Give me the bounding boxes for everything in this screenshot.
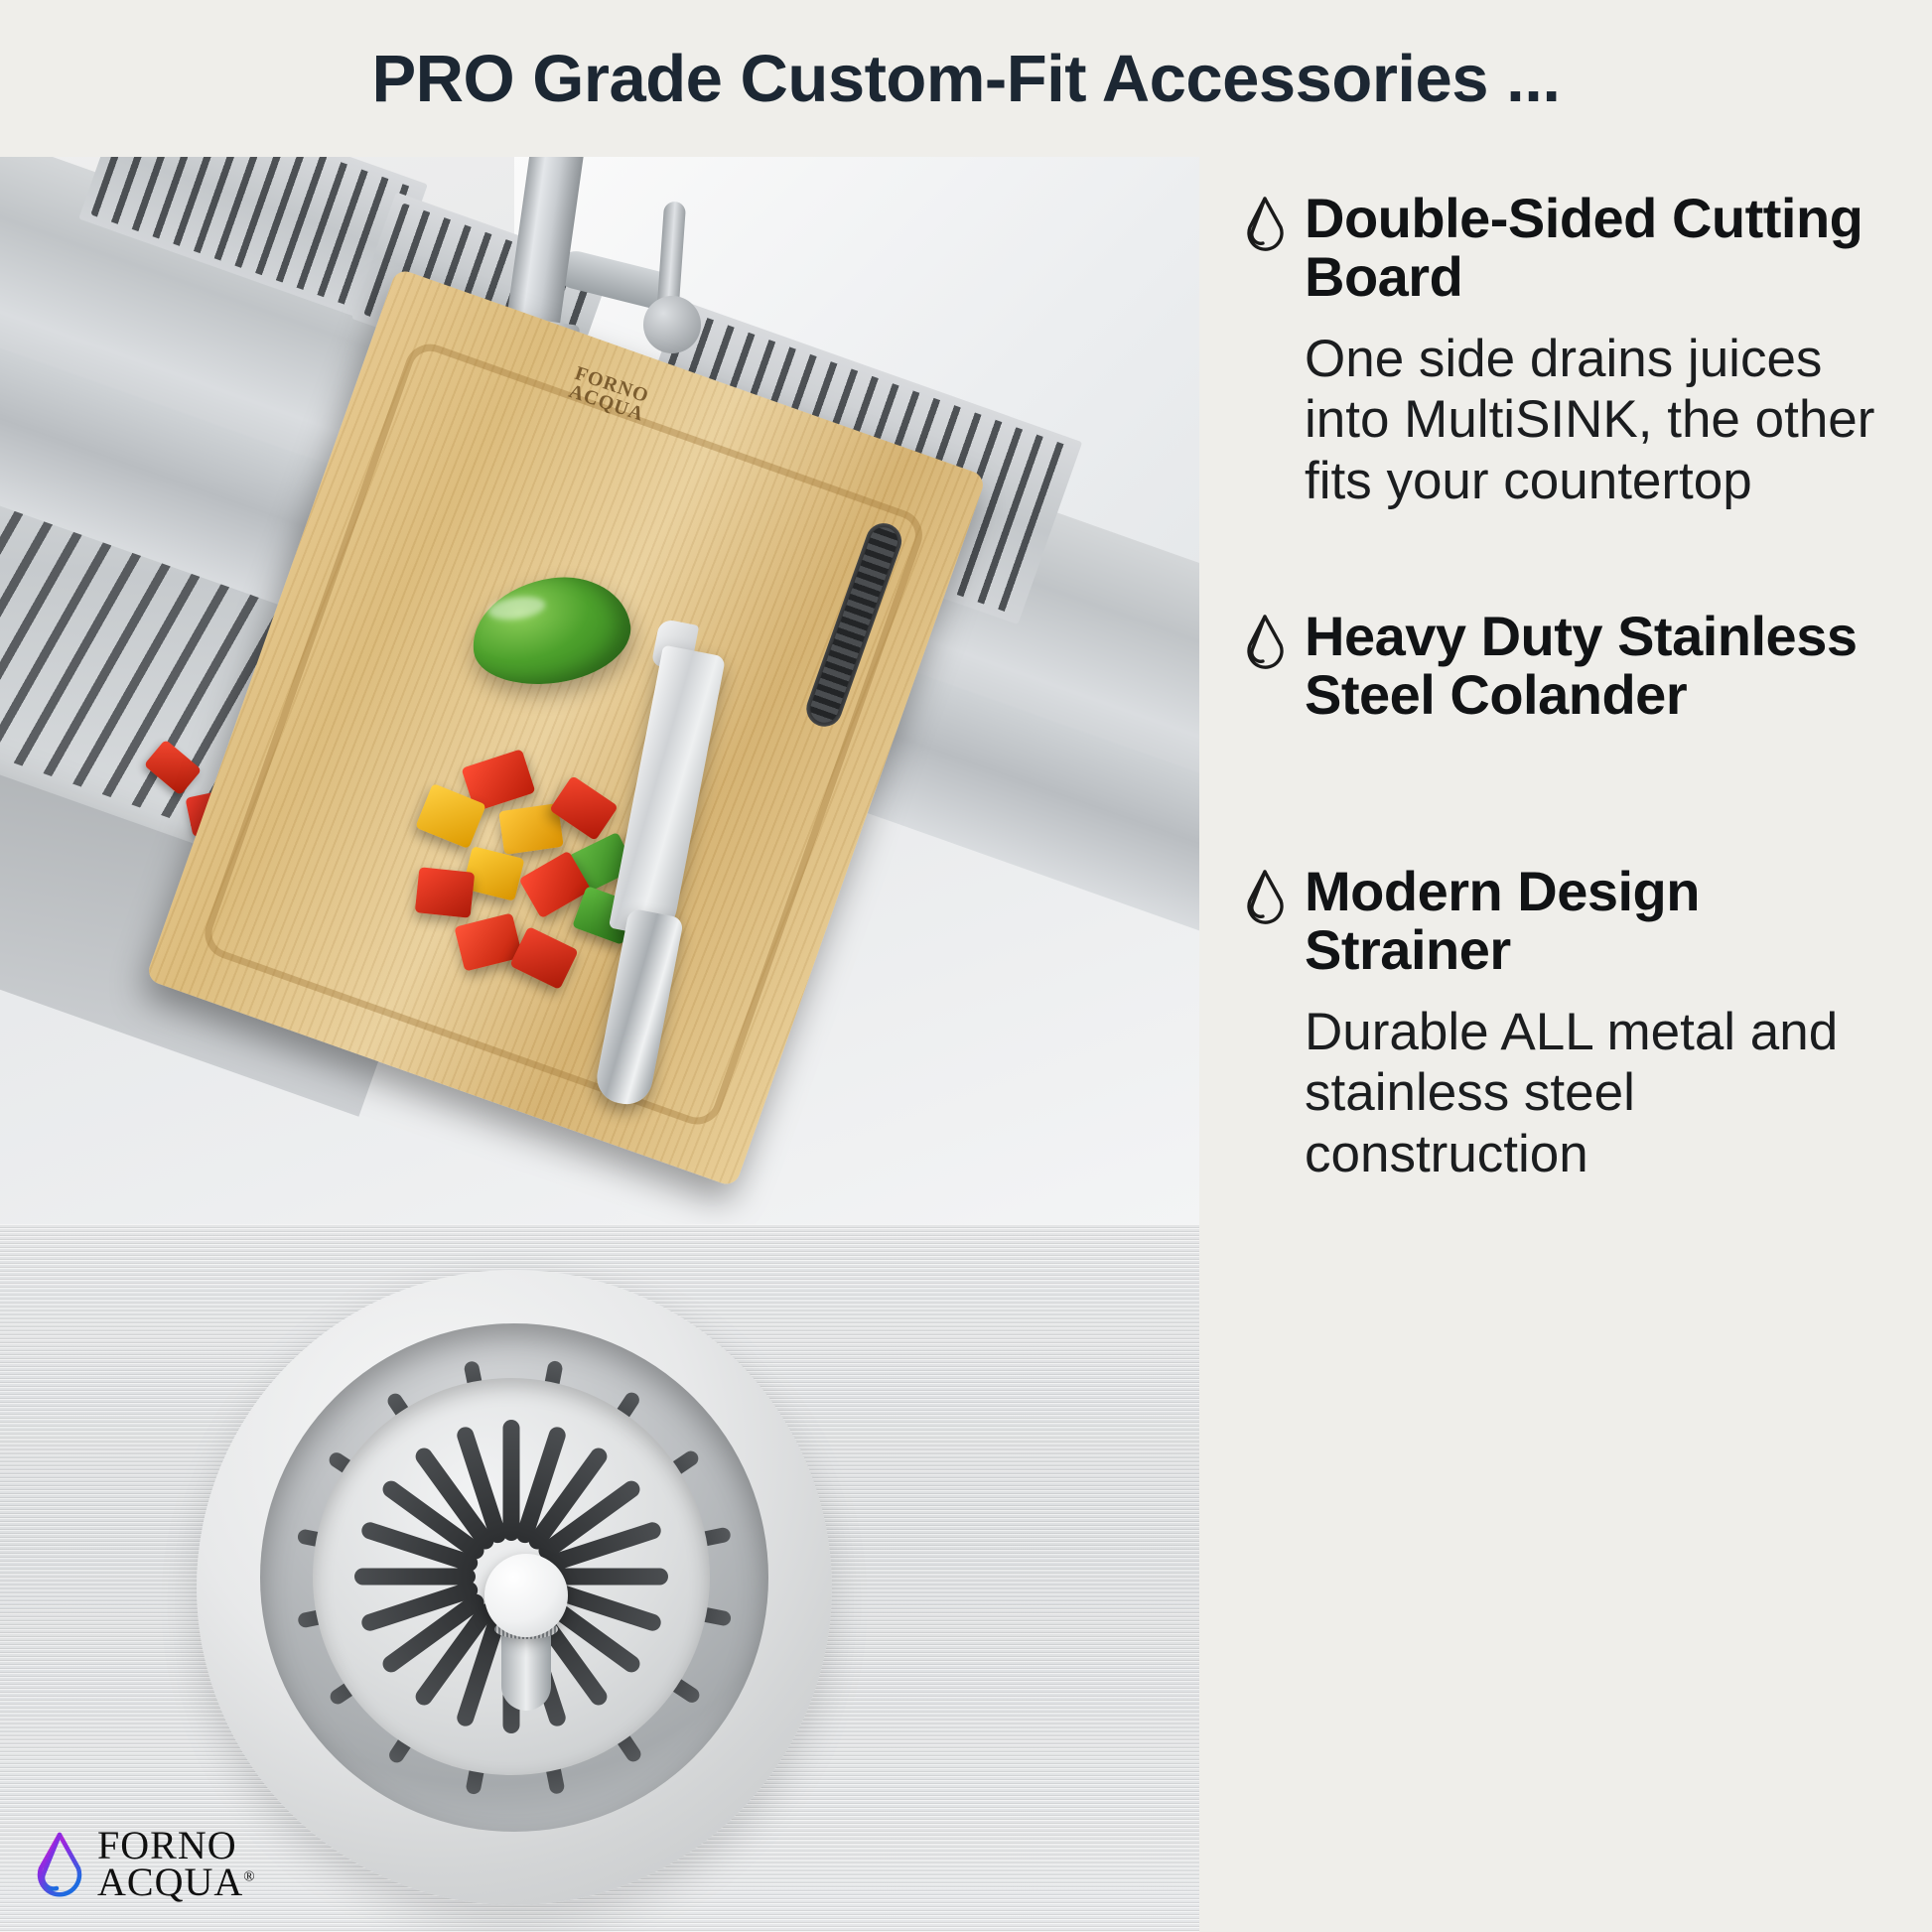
sink-drain-strainer-photo: FORNO ACQUA® xyxy=(0,1224,1199,1932)
feature-title: Double-Sided Cutting Board xyxy=(1305,189,1892,307)
feature-title: Modern Design Strainer xyxy=(1305,862,1892,980)
feature-strainer: Modern Design Strainer Durable ALL metal… xyxy=(1241,862,1892,1184)
feature-header: Modern Design Strainer xyxy=(1241,862,1892,980)
feature-header: Heavy Duty Stainless Steel Colander xyxy=(1241,607,1892,725)
feature-header: Double-Sided Cutting Board xyxy=(1241,189,1892,307)
feature-cutting-board: Double-Sided Cutting Board One side drai… xyxy=(1241,189,1892,511)
spacer xyxy=(1241,743,1892,862)
brand-line-acqua: ACQUA® xyxy=(97,1864,256,1901)
strainer-slot xyxy=(354,1569,476,1586)
feature-colander: Heavy Duty Stainless Steel Colander xyxy=(1241,607,1892,725)
registered-trademark: ® xyxy=(243,1869,255,1885)
strainer-center-knob xyxy=(484,1554,568,1637)
water-drop-icon xyxy=(1241,613,1287,674)
feature-title: Heavy Duty Stainless Steel Colander xyxy=(1305,607,1892,725)
feature-body: Durable ALL metal and stainless steel co… xyxy=(1305,1002,1892,1184)
page-title: PRO Grade Custom-Fit Accessories ... xyxy=(371,41,1560,117)
feature-body: One side drains juices into MultiSINK, t… xyxy=(1305,329,1892,511)
header-bar: PRO Grade Custom-Fit Accessories ... xyxy=(0,0,1932,157)
water-drop-icon xyxy=(1241,195,1287,256)
sink-with-cutting-board-photo: FORNO ACQUA xyxy=(0,157,1199,1224)
brand-wordmark: FORNO ACQUA® xyxy=(97,1828,256,1901)
faucet-knob xyxy=(643,296,701,353)
spacer xyxy=(1241,529,1892,607)
brand-logo: FORNO ACQUA® xyxy=(30,1827,256,1902)
strainer-slot xyxy=(503,1420,520,1541)
water-drop-icon xyxy=(1241,868,1287,929)
features-panel: Double-Sided Cutting Board One side drai… xyxy=(1199,157,1932,1932)
forno-acqua-drop-icon xyxy=(30,1827,87,1902)
pepper-piece xyxy=(415,867,476,918)
photo-column: FORNO ACQUA xyxy=(0,157,1199,1932)
